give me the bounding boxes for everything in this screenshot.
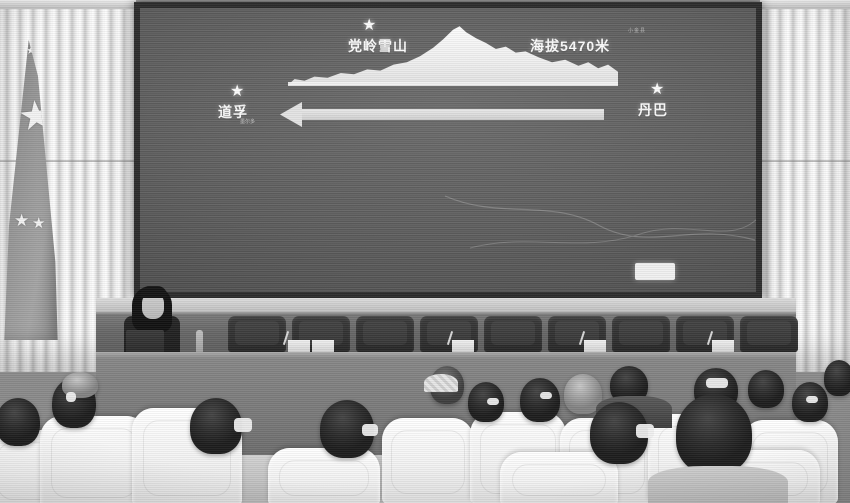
slide-left-city-sublabel: 墨尔多 [240, 118, 255, 125]
slide-logo-box [635, 263, 675, 280]
route-map-squiggle [440, 188, 756, 258]
speaker-laptop [126, 330, 164, 354]
speaker-fringe [140, 286, 167, 298]
flag-star-small-1: ★ [14, 212, 29, 229]
table-nameplate [584, 340, 606, 352]
stage-chair [740, 316, 798, 352]
left-city-star-icon: ★ [230, 84, 244, 100]
hair-clip [487, 398, 499, 405]
slide-left-city-label: 道孚 [218, 102, 248, 122]
route-arrow-shaft [300, 109, 604, 120]
curtain-rail-left [0, 0, 136, 9]
peak-star-icon: ★ [362, 18, 376, 34]
hair-clip [706, 378, 728, 388]
water-bottle [196, 330, 203, 354]
stage-chair [612, 316, 670, 352]
audience-head [676, 394, 752, 474]
audience-shoulders [648, 466, 788, 503]
audience-head [0, 398, 40, 446]
table-nameplate [312, 340, 334, 352]
rostrum-top-rail [96, 298, 796, 312]
slide-tiny-note: 小金县 [628, 27, 646, 34]
audience-head [520, 378, 560, 422]
audience-cap [424, 374, 458, 392]
hair-clip [362, 424, 378, 436]
table-nameplate [712, 340, 734, 352]
mountain-baseline [288, 82, 618, 86]
audience-seat [268, 448, 380, 503]
audience-seat [382, 418, 474, 503]
curtain-rail-right [760, 0, 850, 9]
slide-altitude-label: 海拔5470米 [530, 36, 610, 56]
photo-canvas: ★ ★ ★ ★ ★ 党岭雪山 海拔5470米 ★ 道孚 墨尔多 ★ 丹巴 小金县 [0, 0, 850, 503]
hair-clip [540, 392, 552, 399]
projection-screen[interactable]: ★ 党岭雪山 海拔5470米 ★ 道孚 墨尔多 ★ 丹巴 小金县 [140, 8, 756, 292]
hair-clip [636, 424, 654, 438]
stage-chair [484, 316, 542, 352]
route-arrow-head-icon [280, 102, 302, 127]
stage-chair [356, 316, 414, 352]
curtain-seam-right [760, 160, 850, 162]
rostrum-edge [96, 352, 796, 359]
flag-star-small-2: ★ [32, 216, 45, 231]
mountain-silhouette [288, 25, 618, 85]
slide-right-city-label: 丹巴 [638, 100, 668, 120]
table-nameplate [288, 340, 310, 352]
hair-clip [806, 396, 818, 403]
audience-head [748, 370, 784, 408]
audience-head [824, 360, 850, 396]
right-city-star-icon: ★ [650, 82, 664, 98]
slide-peak-label: 党岭雪山 [348, 36, 408, 56]
hair-clip [234, 418, 252, 432]
stage-chair [228, 316, 286, 352]
hair-clip [66, 392, 76, 402]
table-nameplate [452, 340, 474, 352]
